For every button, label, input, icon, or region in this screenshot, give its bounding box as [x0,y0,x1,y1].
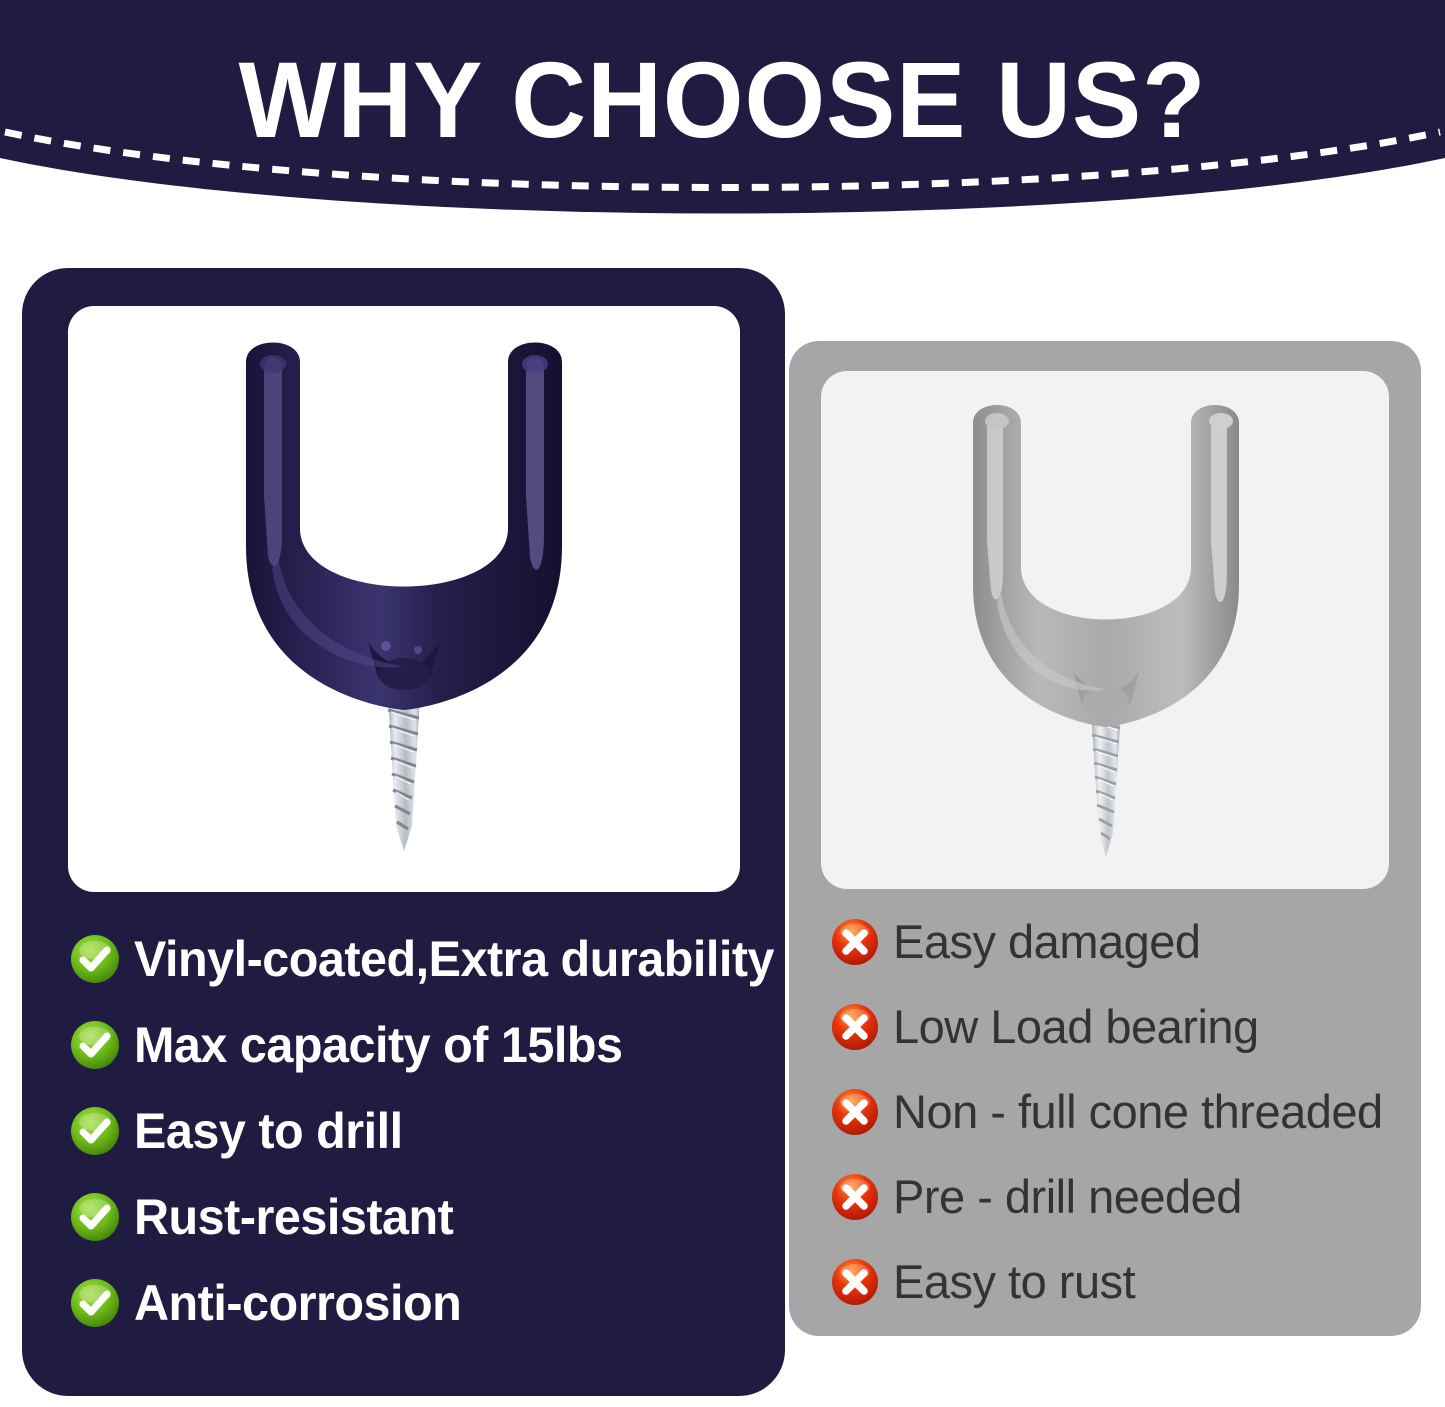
list-item-label: Vinyl-coated,Extra durability [134,933,774,985]
red-x-icon [831,1173,879,1221]
list-item: Rust-resistant [70,1174,770,1260]
list-item: Non - full cone threaded [831,1069,1421,1154]
pros-list: Vinyl-coated,Extra durability Max capaci… [70,916,770,1346]
list-item-label: Easy damaged [893,917,1201,967]
list-item: Easy to drill [70,1088,770,1174]
list-item: Easy to rust [831,1239,1421,1324]
pros-card: Vinyl-coated,Extra durability Max capaci… [22,268,785,1396]
page-title: WHY CHOOSE US? [29,46,1416,154]
list-item: Easy damaged [831,899,1421,984]
green-check-icon [70,1106,120,1156]
list-item: Vinyl-coated,Extra durability [70,916,770,1002]
green-check-icon [70,1020,120,1070]
red-x-icon [831,918,879,966]
list-item: Pre - drill needed [831,1154,1421,1239]
cons-list: Easy damaged Low Load bearing Non - [831,899,1421,1324]
list-item: Low Load bearing [831,984,1421,1069]
red-x-icon [831,1088,879,1136]
list-item-label: Low Load bearing [893,1002,1259,1052]
red-x-icon [831,1003,879,1051]
list-item-label: Anti-corrosion [134,1277,461,1329]
list-item: Anti-corrosion [70,1260,770,1346]
navy-u-hook-illustration [68,306,740,892]
list-item: Max capacity of 15lbs [70,1002,770,1088]
list-item-label: Easy to rust [893,1257,1135,1307]
list-item-label: Rust-resistant [134,1191,453,1243]
cons-card: Easy damaged Low Load bearing Non - [789,341,1421,1336]
gray-u-hook-illustration [821,371,1389,889]
list-item-label: Easy to drill [134,1105,403,1157]
green-check-icon [70,1278,120,1328]
header-banner: WHY CHOOSE US? [0,0,1445,240]
pros-product-image [68,306,740,892]
red-x-icon [831,1258,879,1306]
cons-product-image [821,371,1389,889]
list-item-label: Pre - drill needed [893,1172,1242,1222]
green-check-icon [70,1192,120,1242]
list-item-label: Max capacity of 15lbs [134,1019,623,1071]
green-check-icon [70,934,120,984]
list-item-label: Non - full cone threaded [893,1087,1383,1137]
